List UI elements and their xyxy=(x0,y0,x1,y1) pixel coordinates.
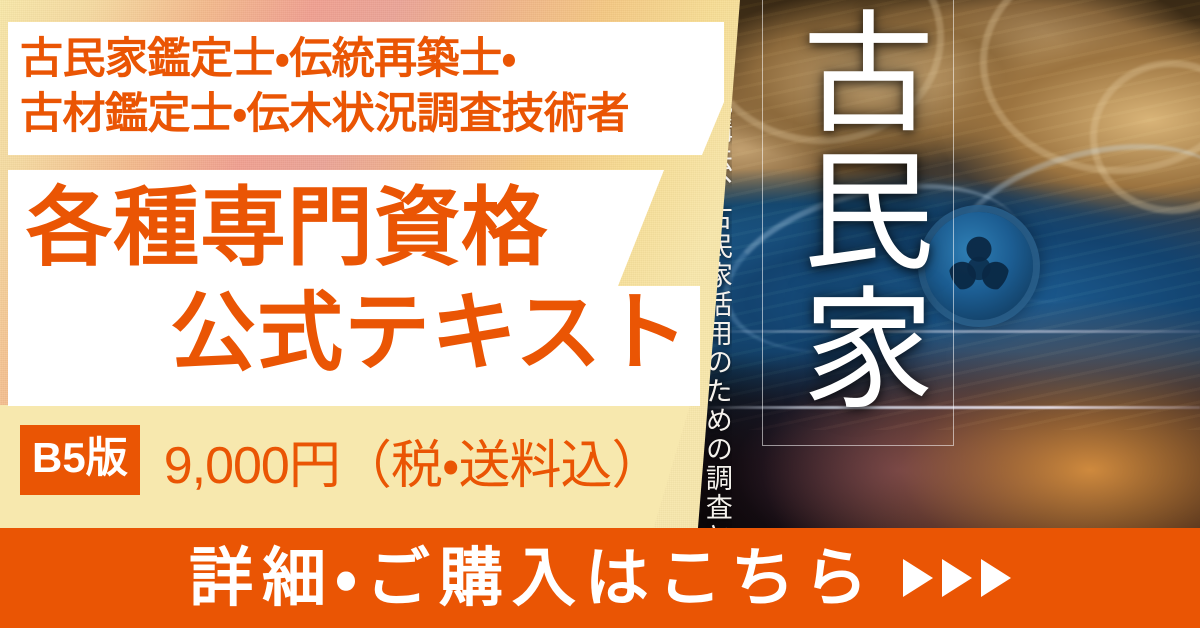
cta-content: 詳細・ご購入はこちら xyxy=(189,546,1011,610)
price-amount: 9,000円（税・送料込） xyxy=(164,423,663,498)
price-row: B5版 9,000円（税・送料込） xyxy=(20,424,663,496)
format-badge: B5版 xyxy=(20,425,140,495)
headline-line-1: 各種専門資格 xyxy=(8,176,698,281)
promo-banner: 伝統構法、古民家活用のための調査と再生の 古民家 古民家鑑定士・伝統再築士・ 古… xyxy=(0,0,1200,628)
chevron-right-icon xyxy=(942,559,972,597)
chevron-right-icon xyxy=(903,559,933,597)
chevron-right-icon xyxy=(981,559,1011,597)
certifications-line-1: 古民家鑑定士・伝統再築士・ xyxy=(20,32,720,87)
certifications-line-2: 古材鑑定士・伝木状況調査技術者 xyxy=(20,87,720,142)
certifications-text: 古民家鑑定士・伝統再築士・ 古材鑑定士・伝木状況調査技術者 xyxy=(20,32,720,142)
book-cover-title: 古民家 xyxy=(786,4,926,418)
headline-line-2: 公式テキスト xyxy=(8,281,698,386)
cta-button[interactable]: 詳細・ご購入はこちら xyxy=(0,528,1200,628)
cta-arrows xyxy=(903,559,1011,597)
cta-label: 詳細・ご購入はこちら xyxy=(189,546,877,610)
page-title: 各種専門資格 公式テキスト xyxy=(8,176,698,386)
